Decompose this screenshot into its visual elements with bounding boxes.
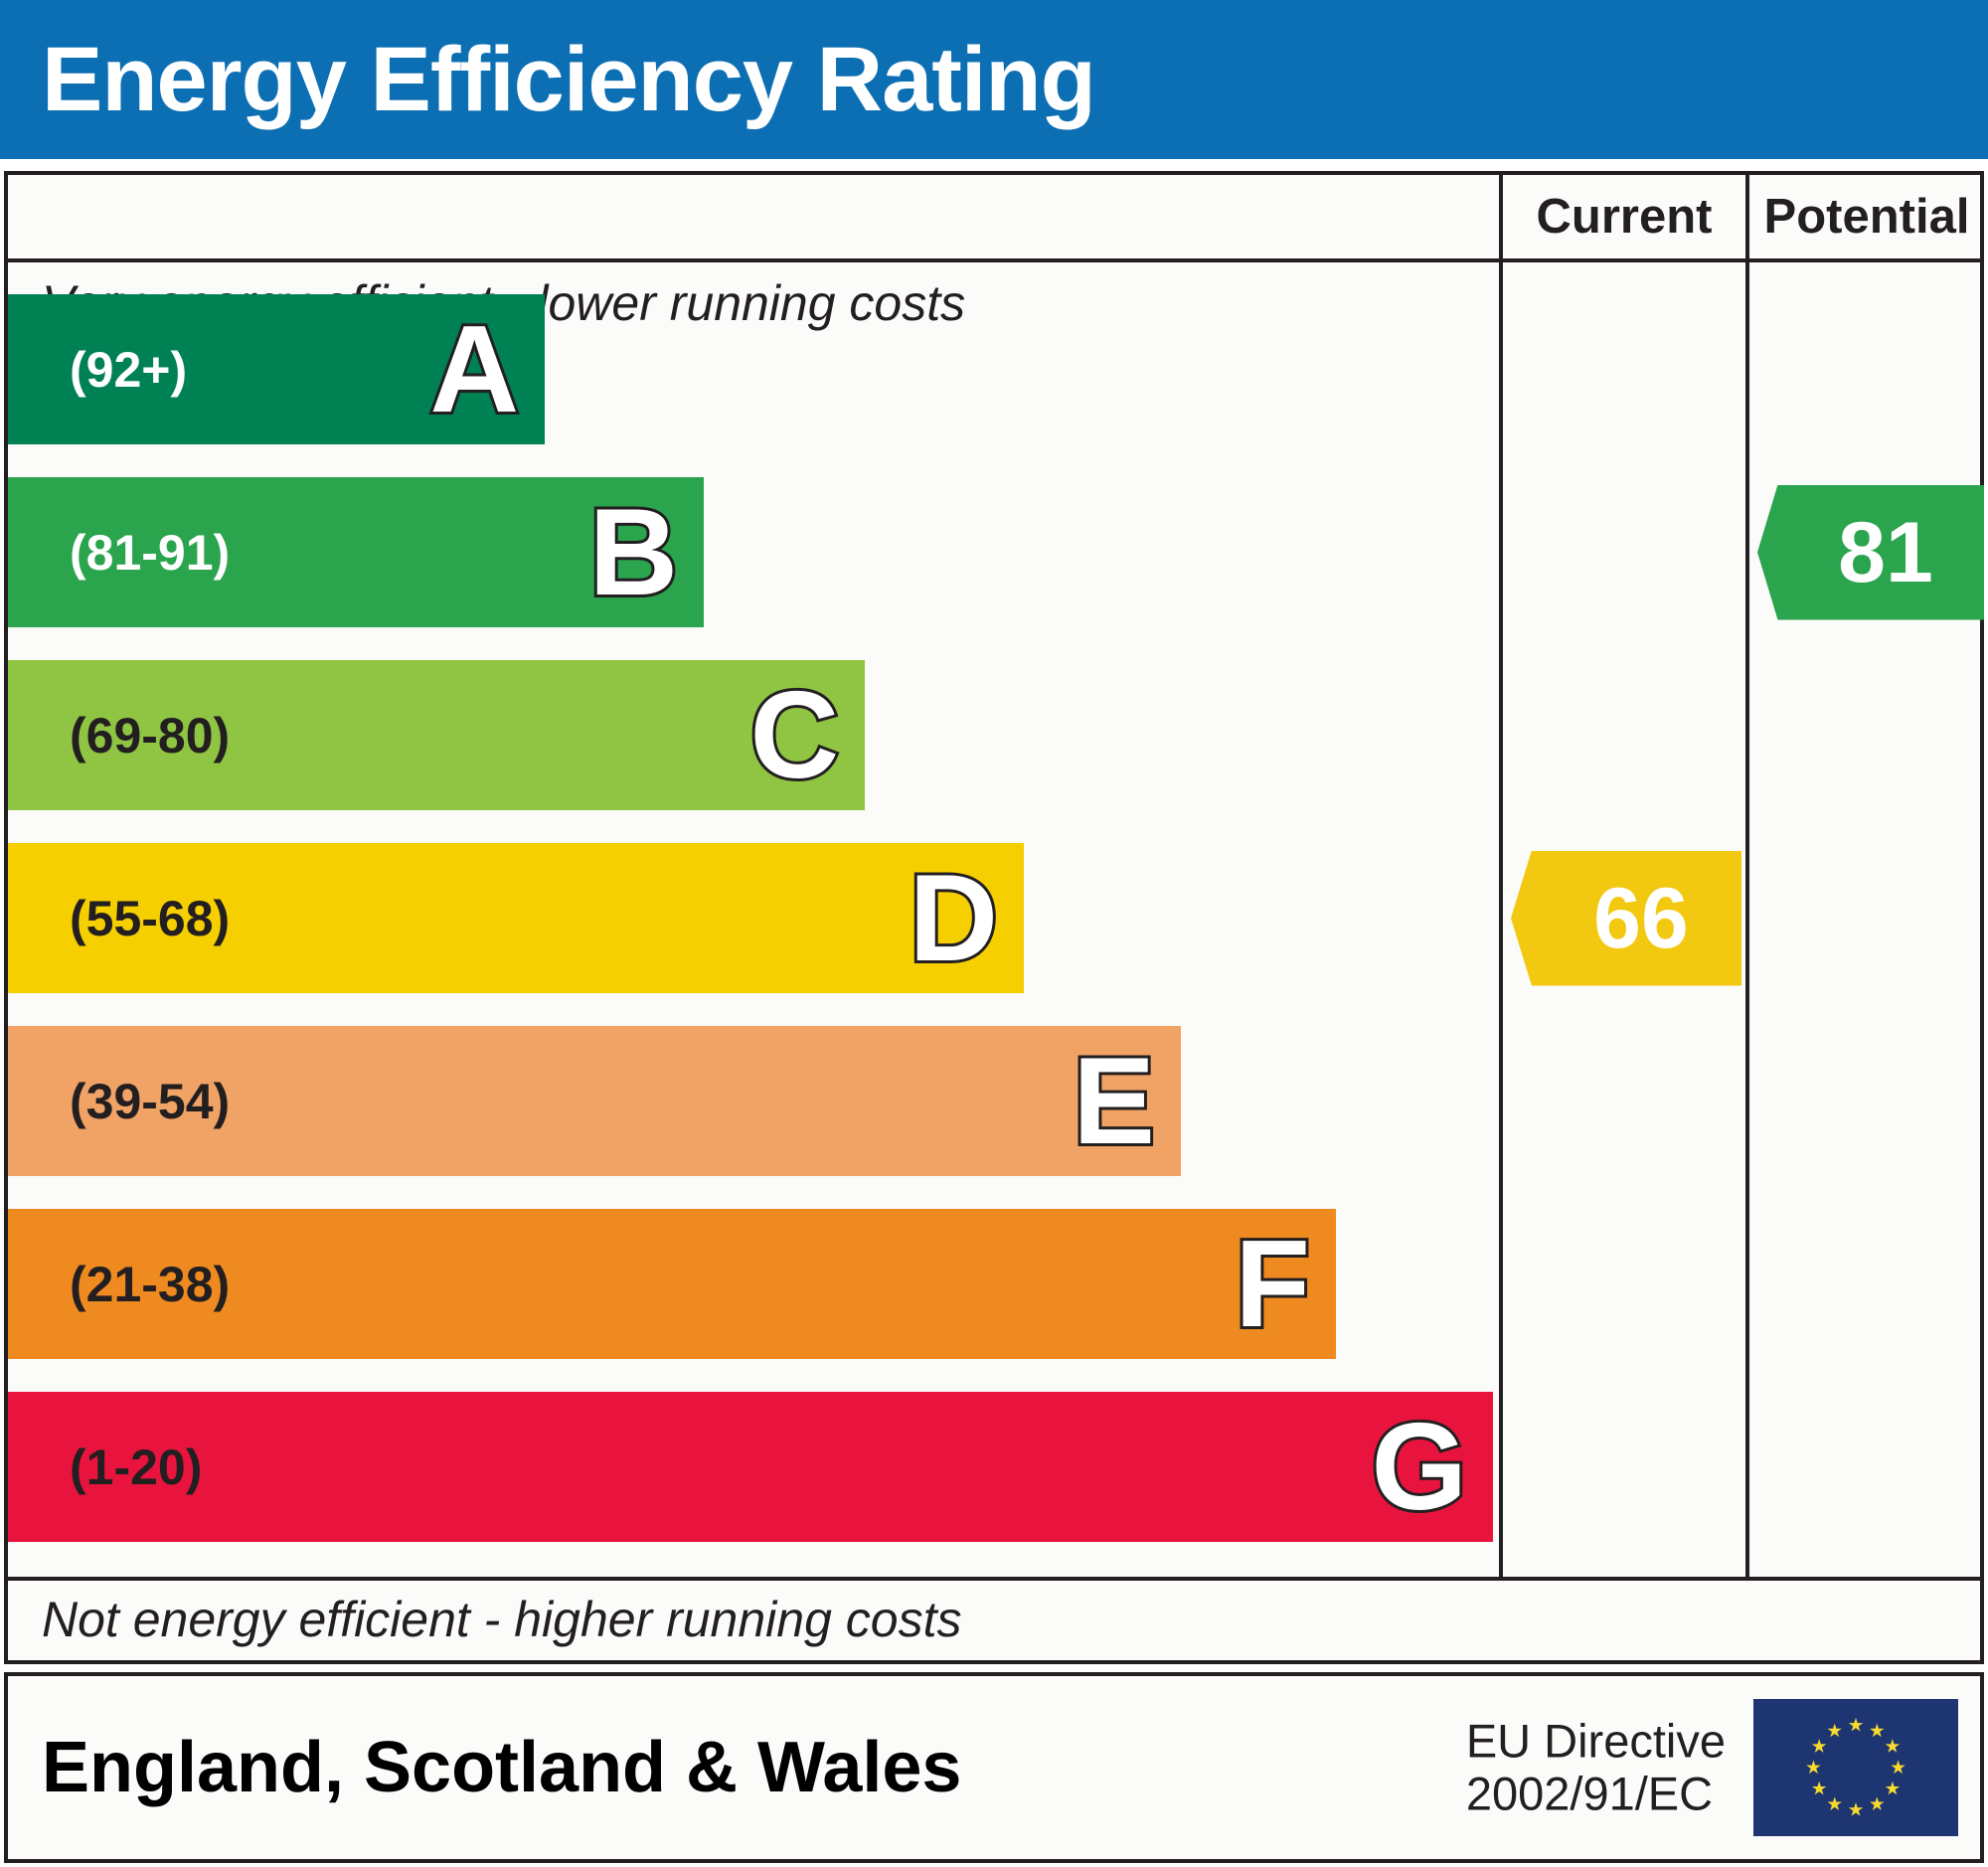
potential-rating-badge: 81 <box>1757 485 1984 620</box>
band-row-b: (81-91)B <box>8 477 704 627</box>
current-rating-badge: 66 <box>1511 851 1741 986</box>
eu-star-icon <box>1886 1782 1900 1795</box>
band-range-e: (39-54) <box>70 1073 230 1130</box>
band-list: (92+)A(81-91)B(69-80)C(55-68)D(39-54)E(2… <box>8 294 1495 1577</box>
eu-star-icon <box>1870 1724 1884 1738</box>
column-divider-potential <box>1745 262 1749 1577</box>
column-header-current: Current <box>1499 175 1745 258</box>
energy-efficiency-rating-certificate: Energy Efficiency Rating Current Potenti… <box>0 0 1988 1867</box>
eu-directive-label: EU Directive 2002/91/EC <box>1466 1715 1726 1819</box>
rating-chart: Current Potential Very energy efficient … <box>4 171 1984 1664</box>
bottom-divider <box>8 1577 1980 1581</box>
eu-star-icon <box>1806 1760 1820 1774</box>
band-row-c: (69-80)C <box>8 660 865 810</box>
region-label: England, Scotland & Wales <box>42 1727 961 1808</box>
potential-rating-value: 81 <box>1838 510 1933 595</box>
eu-star-icon <box>1891 1760 1905 1774</box>
current-rating-value: 66 <box>1593 876 1689 961</box>
eu-directive-line1: EU Directive <box>1466 1715 1726 1768</box>
eu-flag-icon <box>1753 1699 1958 1836</box>
page-title: Energy Efficiency Rating <box>42 34 1095 125</box>
column-divider-current <box>1499 262 1503 1577</box>
band-range-a: (92+) <box>70 341 187 399</box>
title-bar: Energy Efficiency Rating <box>0 0 1988 159</box>
band-letter-g: G <box>1372 1406 1467 1529</box>
eu-star-icon <box>1828 1796 1842 1810</box>
band-letter-b: B <box>588 491 678 614</box>
eu-flag-stars <box>1753 1699 1958 1836</box>
eu-star-icon <box>1849 1802 1863 1816</box>
eu-star-icon <box>1828 1724 1842 1738</box>
band-range-b: (81-91) <box>70 524 230 582</box>
band-letter-f: F <box>1235 1223 1310 1346</box>
footer-bar: England, Scotland & Wales EU Directive 2… <box>4 1672 1984 1863</box>
band-row-g: (1-20)G <box>8 1392 1493 1542</box>
band-range-d: (55-68) <box>70 890 230 947</box>
eu-star-icon <box>1812 1782 1826 1795</box>
band-row-a: (92+)A <box>8 294 545 444</box>
band-range-g: (1-20) <box>70 1439 202 1496</box>
band-letter-e: E <box>1073 1040 1155 1163</box>
band-row-e: (39-54)E <box>8 1026 1181 1176</box>
column-header-potential: Potential <box>1745 175 1984 258</box>
band-letter-d: D <box>909 857 998 980</box>
band-row-f: (21-38)F <box>8 1209 1336 1359</box>
column-header-row: Current Potential <box>8 175 1980 262</box>
eu-star-icon <box>1886 1739 1900 1753</box>
band-range-f: (21-38) <box>70 1256 230 1313</box>
eu-directive-line2: 2002/91/EC <box>1466 1768 1726 1820</box>
eu-star-icon <box>1870 1796 1884 1810</box>
band-range-c: (69-80) <box>70 707 230 764</box>
eu-star-icon <box>1812 1739 1826 1753</box>
caption-inefficient: Not energy efficient - higher running co… <box>42 1591 962 1648</box>
band-letter-a: A <box>429 308 519 431</box>
eu-star-icon <box>1849 1718 1863 1732</box>
band-row-d: (55-68)D <box>8 843 1024 993</box>
band-letter-c: C <box>749 674 839 797</box>
